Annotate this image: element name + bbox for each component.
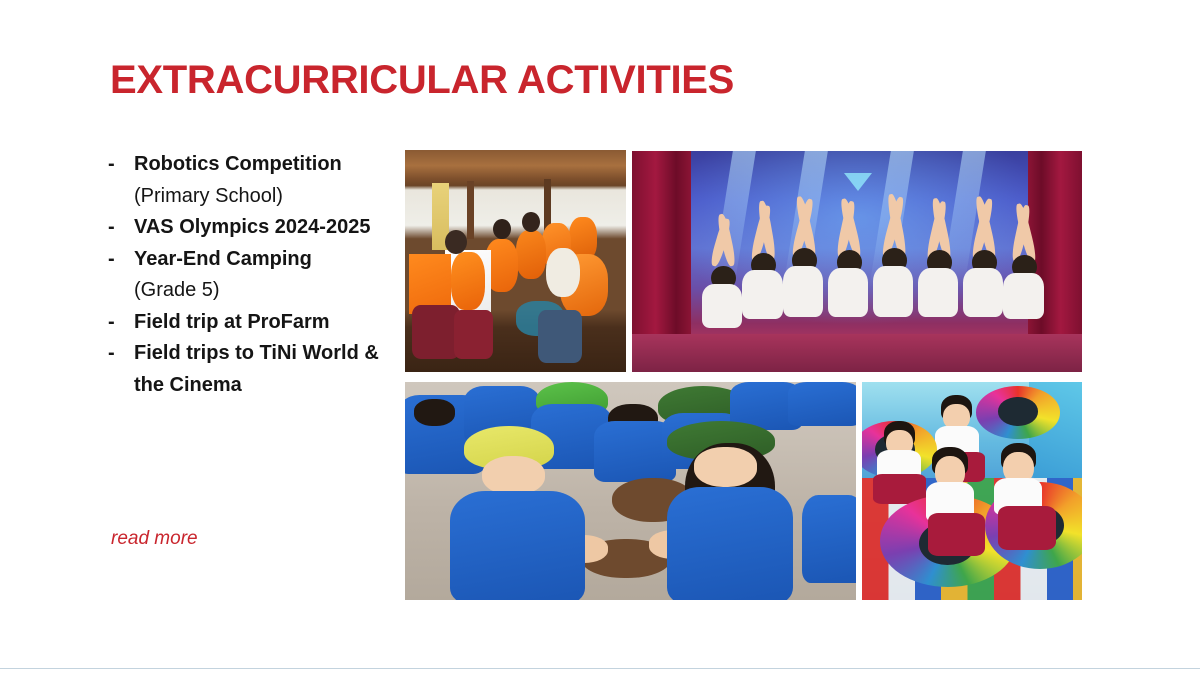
bullet-dash-icon: - (108, 244, 134, 276)
bullet-dash-icon: - (108, 307, 134, 339)
list-item-note: (Primary School) (134, 181, 398, 213)
list-item: - VAS Olympics 2024-2025 (108, 212, 398, 244)
list-item-title: VAS Olympics 2024-2025 (134, 212, 398, 244)
list-item-title: Field trip at ProFarm (134, 307, 398, 339)
footer-divider (0, 668, 1200, 669)
list-item: - Year-End Camping (Grade 5) (108, 244, 398, 307)
bullet-dash-icon: - (108, 212, 134, 244)
list-item-title: Field trips to TiNi World & the Cinema (134, 338, 398, 401)
slide-canvas: EXTRACURRICULAR ACTIVITIES - Robotics Co… (0, 0, 1200, 673)
photo-boat-trip (405, 150, 626, 372)
list-item: - Robotics Competition (Primary School) (108, 149, 398, 212)
list-item-title: Robotics Competition (134, 149, 398, 181)
list-item: - Field trip at ProFarm (108, 307, 398, 339)
list-item-title: Year-End Camping (134, 244, 398, 276)
read-more-link[interactable]: read more (111, 528, 198, 551)
photo-tini-world (862, 382, 1082, 600)
photo-stage-performance (632, 151, 1082, 372)
page-title: EXTRACURRICULAR ACTIVITIES (110, 58, 734, 102)
bullet-dash-icon: - (108, 149, 134, 181)
activities-list: - Robotics Competition (Primary School) … (108, 149, 398, 401)
list-item: - Field trips to TiNi World & the Cinema (108, 338, 398, 401)
list-item-note: (Grade 5) (134, 275, 398, 307)
bullet-dash-icon: - (108, 338, 134, 370)
photo-profarm-mud (405, 382, 856, 600)
